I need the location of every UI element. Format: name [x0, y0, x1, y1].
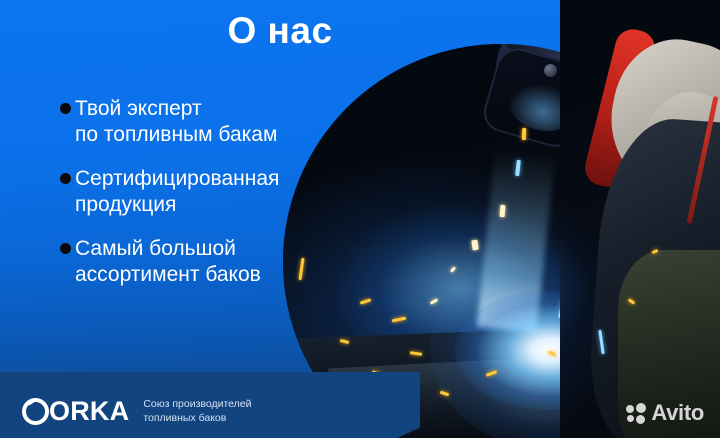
list-item-label: Самый большой ассортимент баков: [75, 236, 261, 287]
orka-logo: ORKA Союз производителей топливных баков: [22, 396, 251, 426]
welding-scene-right: [560, 0, 720, 438]
avito-watermark-label: Avito: [651, 402, 704, 424]
list-item: Самый большой ассортимент баков: [60, 236, 380, 287]
list-item-label: Твой эксперт по топливным бакам: [75, 96, 277, 147]
avito-watermark: Avito: [626, 402, 704, 424]
orka-logo-tagline: Союз производителей топливных баков: [143, 396, 251, 426]
list-item-label: Сертифицированная продукция: [75, 166, 279, 217]
avito-dots-icon: [626, 403, 647, 424]
orka-logo-text: ORKA: [49, 398, 129, 425]
about-us-banner: О нас Твой эксперт по топливным бакам Се…: [0, 0, 720, 438]
welder-photo-right-bleed: [560, 0, 720, 438]
benefits-list: Твой эксперт по топливным бакам Сертифиц…: [60, 96, 380, 307]
list-item: Твой эксперт по топливным бакам: [60, 96, 380, 147]
bullet-dot-icon: [60, 173, 71, 184]
orka-gauge-icon: [22, 398, 49, 425]
list-item: Сертифицированная продукция: [60, 166, 380, 217]
page-title: О нас: [0, 10, 560, 52]
bullet-dot-icon: [60, 103, 71, 114]
bullet-dot-icon: [60, 243, 71, 254]
